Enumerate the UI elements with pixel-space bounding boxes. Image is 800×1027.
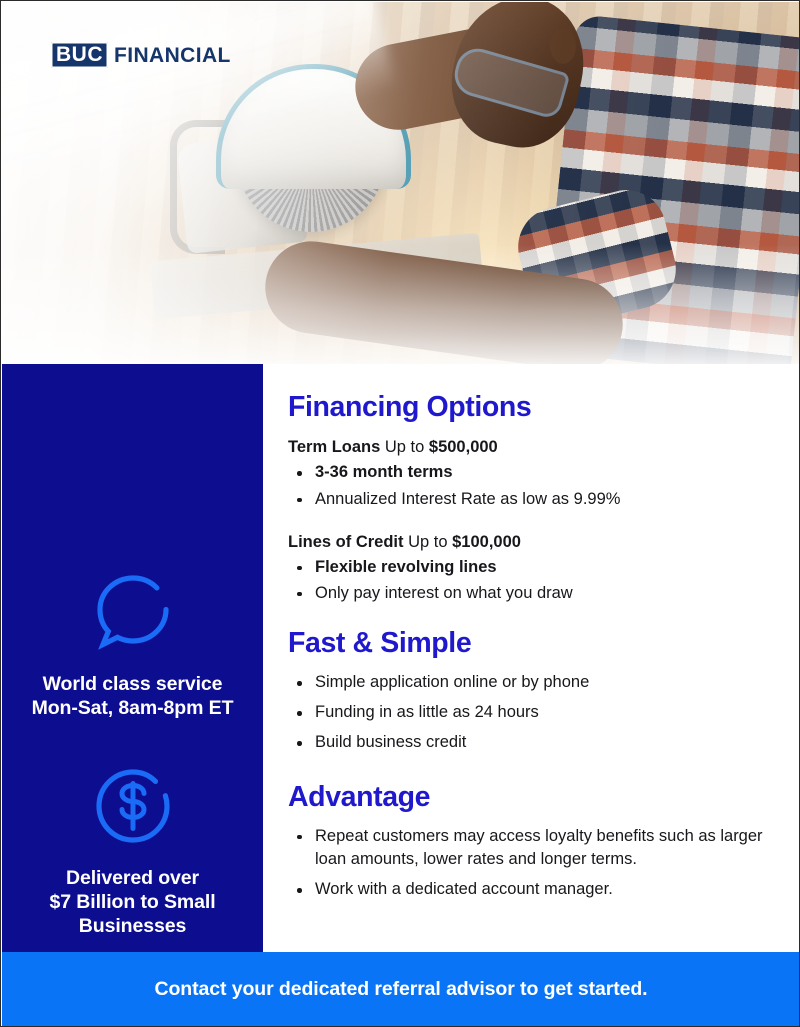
main-content: Financing Options Term Loans Up to $500,… bbox=[263, 364, 800, 952]
section-title-advantage: Advantage bbox=[288, 782, 764, 813]
bullet-list-fast-and-simple: Simple application online or by phone Fu… bbox=[288, 671, 764, 754]
sidebar-caption-delivered: Delivered over $7 Billion to Small Busin… bbox=[16, 866, 249, 939]
subhead-lines-of-credit: Lines of Credit Up to $100,000 bbox=[288, 531, 764, 553]
sidebar-caption-delivered-line3: Businesses bbox=[16, 914, 249, 938]
bullet-list-lines-of-credit: Flexible revolving lines Only pay intere… bbox=[288, 556, 764, 605]
hero-bottom-fade bbox=[2, 244, 800, 364]
sidebar-caption-delivered-line2: $7 Billion to Small bbox=[16, 890, 249, 914]
subhead-lines-of-credit-label: Lines of Credit bbox=[288, 533, 404, 551]
list-item: 3-36 month terms bbox=[288, 461, 764, 484]
logo-mark-buc: BUC bbox=[51, 42, 108, 68]
footer-cta-text: Contact your dedicated referral advisor … bbox=[155, 978, 648, 1001]
section-title-fast-and-simple: Fast & Simple bbox=[288, 628, 764, 659]
list-item: Simple application online or by phone bbox=[288, 671, 764, 694]
sidebar-caption-service: World class service Mon-Sat, 8am-8pm ET bbox=[16, 672, 249, 720]
subhead-lines-of-credit-connector: Up to bbox=[404, 533, 453, 551]
list-item: Build business credit bbox=[288, 731, 764, 754]
speech-bubble-icon bbox=[16, 570, 249, 654]
list-item: Annualized Interest Rate as low as 9.99% bbox=[288, 488, 764, 511]
list-item: Flexible revolving lines bbox=[288, 556, 764, 579]
footer-cta-bar[interactable]: Contact your dedicated referral advisor … bbox=[2, 952, 800, 1027]
bullet-list-term-loans: 3-36 month terms Annualized Interest Rat… bbox=[288, 461, 764, 510]
left-highlight-sidebar: World class service Mon-Sat, 8am-8pm ET … bbox=[2, 364, 263, 952]
subhead-term-loans-label: Term Loans bbox=[288, 438, 380, 456]
list-item: Funding in as little as 24 hours bbox=[288, 701, 764, 724]
subhead-term-loans-connector: Up to bbox=[380, 438, 429, 456]
spacer bbox=[288, 762, 764, 782]
brand-logo[interactable]: BUC FINANCIAL bbox=[51, 42, 231, 68]
logo-word-financial: FINANCIAL bbox=[114, 45, 231, 66]
list-item: Only pay interest on what you draw bbox=[288, 582, 764, 605]
sidebar-caption-delivered-line1: Delivered over bbox=[16, 866, 249, 890]
dollar-circle-icon bbox=[16, 764, 249, 848]
list-item: Repeat customers may access loyalty bene… bbox=[288, 825, 764, 871]
subhead-lines-of-credit-amount: $100,000 bbox=[452, 533, 521, 551]
section-title-financing-options: Financing Options bbox=[288, 392, 764, 423]
spacer bbox=[288, 514, 764, 531]
sidebar-caption-service-line1: World class service bbox=[16, 672, 249, 696]
sidebar-caption-service-line2: Mon-Sat, 8am-8pm ET bbox=[16, 696, 249, 720]
flyer-page: BUC FINANCIAL World class service Mon-Sa… bbox=[0, 0, 800, 1027]
list-item: Work with a dedicated account manager. bbox=[288, 878, 764, 901]
subhead-term-loans: Term Loans Up to $500,000 bbox=[288, 436, 764, 458]
sidebar-block-service: World class service Mon-Sat, 8am-8pm ET bbox=[16, 570, 249, 720]
spacer bbox=[288, 608, 764, 628]
bullet-list-advantage: Repeat customers may access loyalty bene… bbox=[288, 825, 764, 901]
sidebar-block-delivered: Delivered over $7 Billion to Small Busin… bbox=[16, 764, 249, 939]
subhead-term-loans-amount: $500,000 bbox=[429, 438, 498, 456]
